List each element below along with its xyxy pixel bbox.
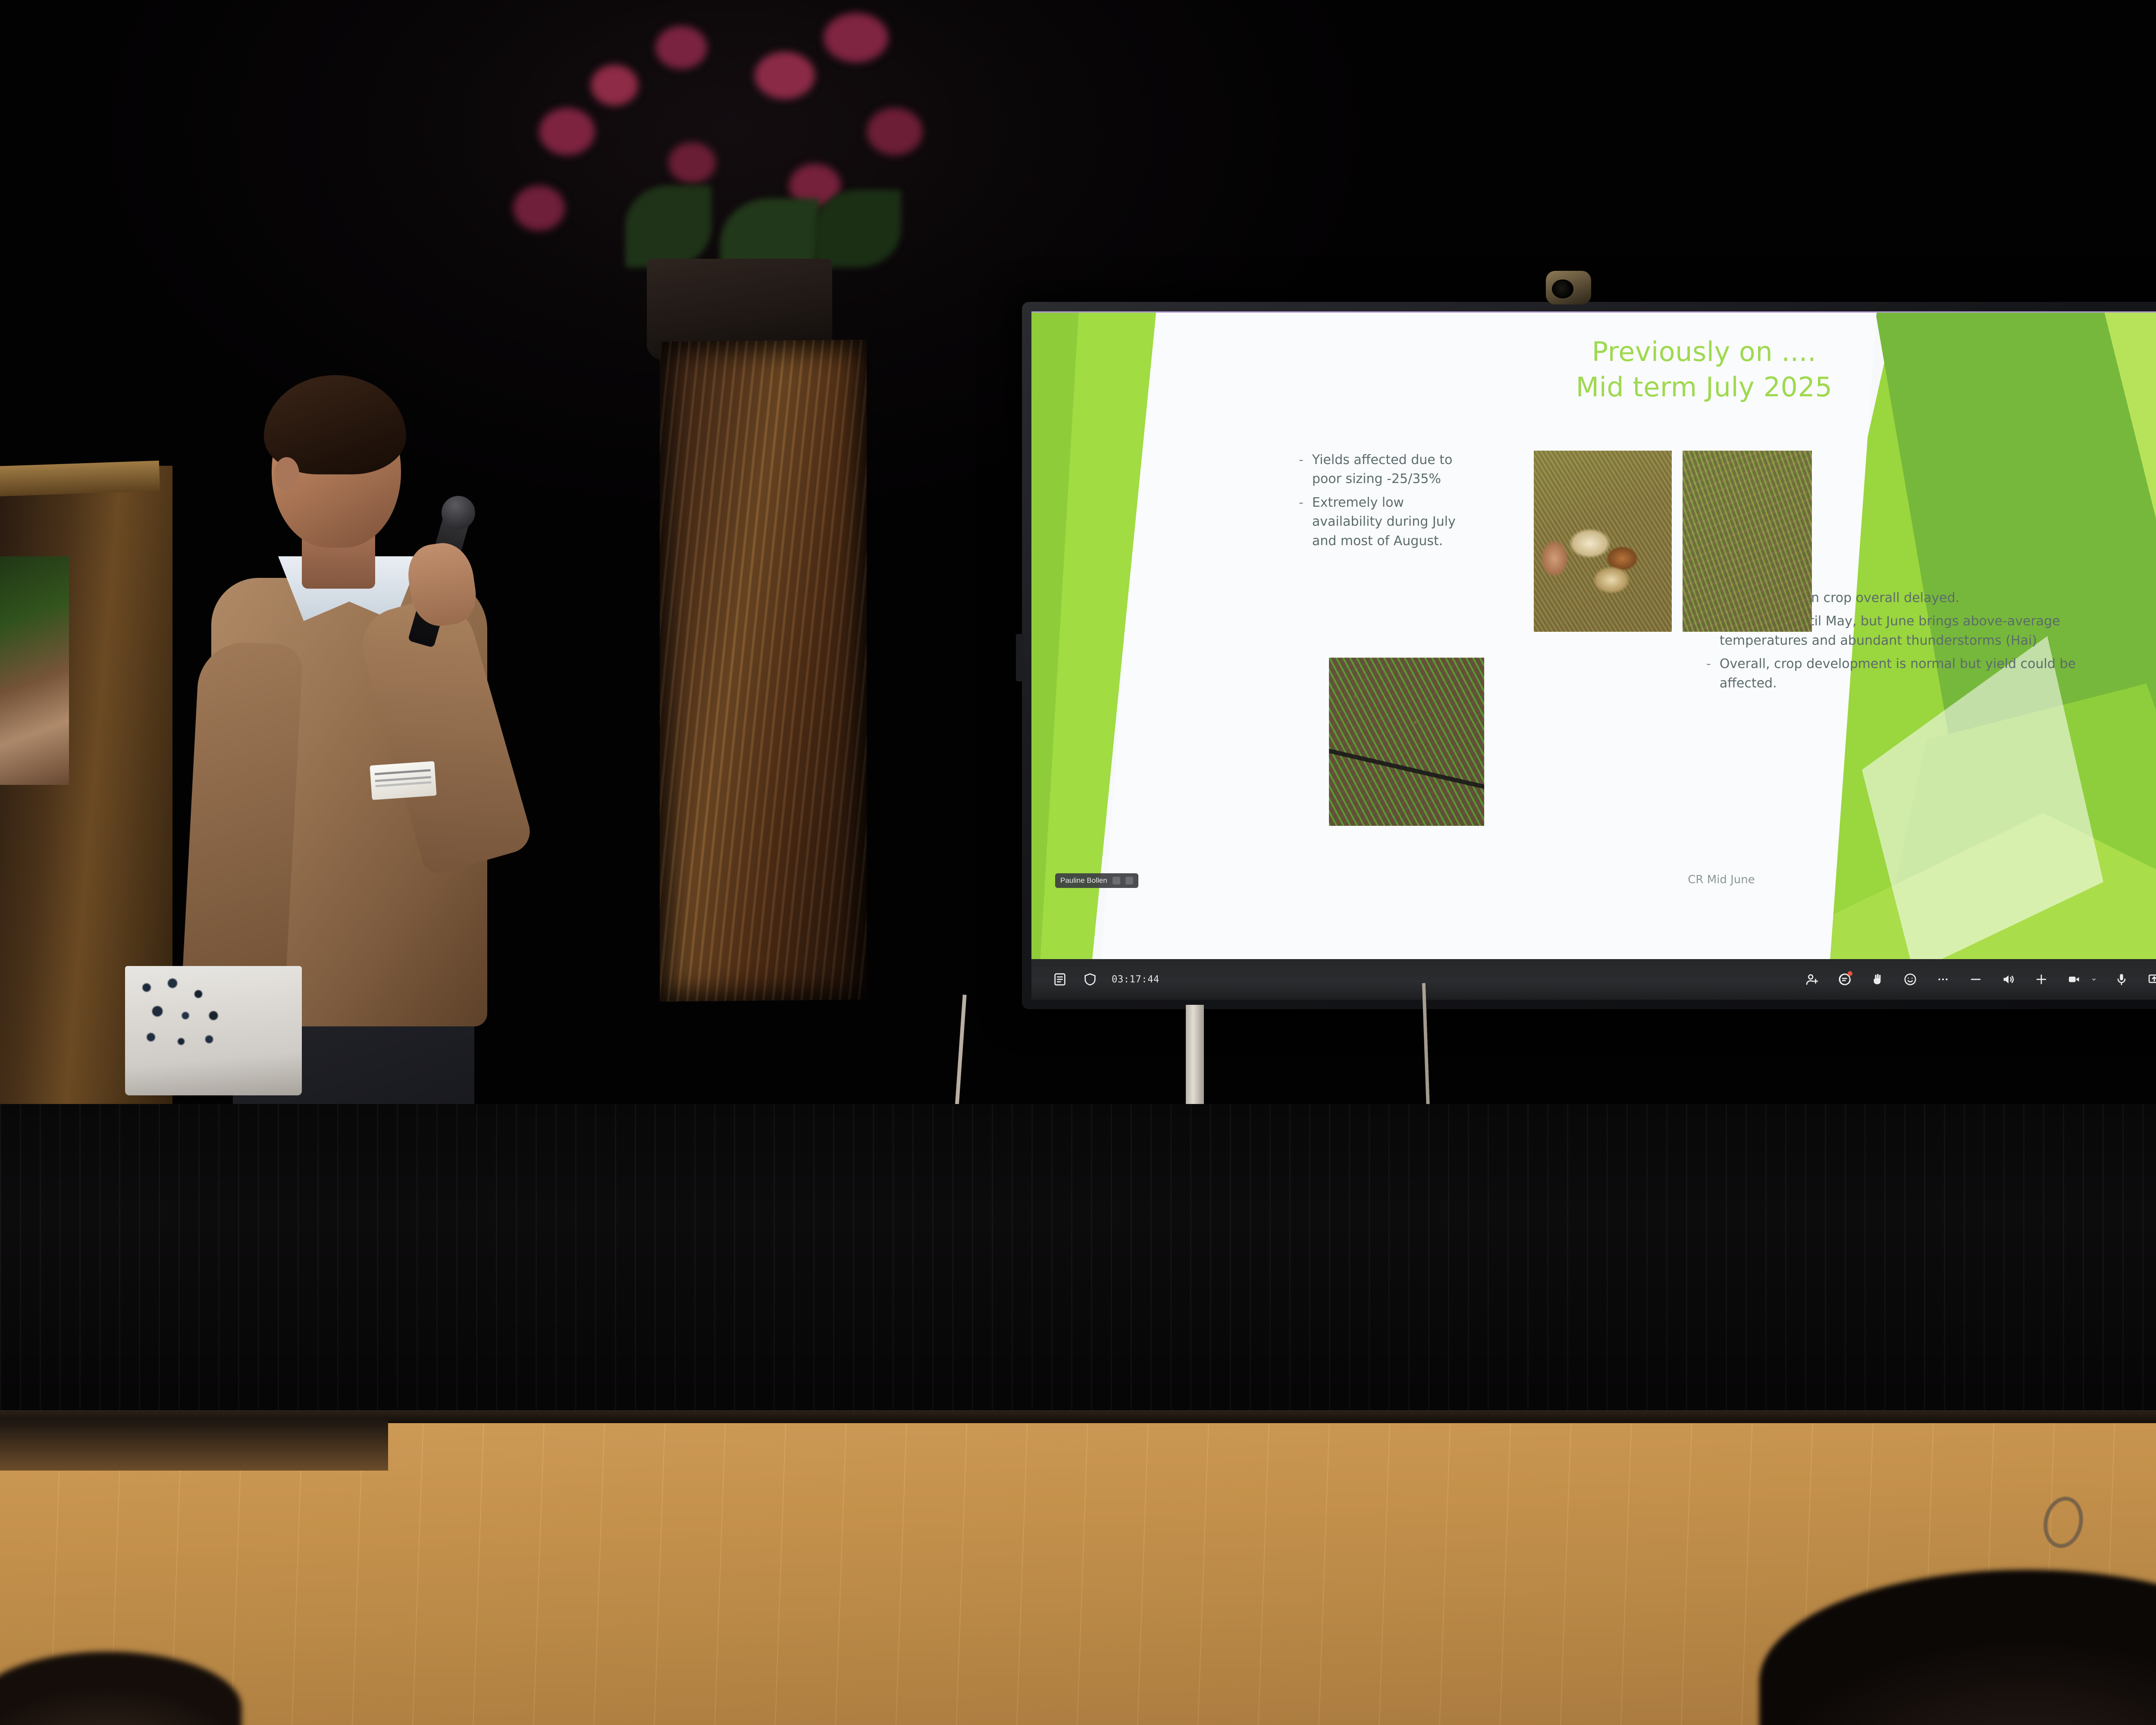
- stage-scene: Previously on .... Mid term July 2025 - …: [0, 0, 2156, 1725]
- speaker-icon[interactable]: [2000, 971, 2017, 988]
- wooden-plinth: [660, 339, 867, 1001]
- bullet-text: Yields affected due to poor sizing -25/3…: [1312, 451, 1463, 489]
- raise-hand-button[interactable]: [1869, 971, 1886, 988]
- chat-unread-badge: [1848, 971, 1852, 976]
- bullet-marker: -: [1299, 493, 1304, 551]
- presenter-ear: [274, 457, 299, 491]
- volume-down-button[interactable]: [1967, 971, 1984, 988]
- presenter-name-pill[interactable]: Pauline Bollen: [1055, 873, 1138, 888]
- meeting-bar-left: 03:17:44: [1031, 971, 1159, 988]
- floor-shadow-left: [0, 1419, 388, 1471]
- slide-photo-harvested-onions: [1534, 451, 1672, 632]
- slide-title: Previously on .... Mid term July 2025: [1454, 334, 1954, 405]
- shield-icon[interactable]: [1081, 971, 1099, 988]
- microphone-button[interactable]: [2113, 971, 2130, 988]
- bullet-text: Extremely low availability during July a…: [1312, 493, 1463, 551]
- slide-caption: CR Mid June: [1592, 873, 1851, 886]
- bullet-item: - Overall, crop development is normal bu…: [1706, 655, 2090, 693]
- presenter-pill-label: Pauline Bollen: [1060, 876, 1107, 885]
- bullet-marker: -: [1706, 655, 1711, 693]
- bullet-item: - Extremely low availability during July…: [1299, 493, 1463, 551]
- lectern-top: [0, 461, 160, 497]
- lectern-poster: [0, 556, 69, 785]
- pill-mini-icon-2: [1125, 877, 1133, 884]
- tote-bag: [125, 966, 302, 1095]
- floral-arrangement: [487, 0, 996, 358]
- webcam-icon: [1546, 271, 1591, 304]
- pill-mini-icon: [1112, 877, 1120, 884]
- meeting-timer: 03:17:44: [1112, 974, 1159, 985]
- display-screen[interactable]: Previously on .... Mid term July 2025 - …: [1031, 311, 2156, 959]
- bullet-item: - Yields affected due to poor sizing -25…: [1299, 451, 1463, 489]
- reactions-button[interactable]: [1902, 971, 1919, 988]
- slide-photo-onion-field: [1683, 451, 1812, 632]
- chat-button[interactable]: [1836, 971, 1853, 988]
- slide-title-line-1: Previously on ....: [1454, 334, 1954, 370]
- more-options-button[interactable]: [1934, 971, 1952, 988]
- meeting-bar-right: [1803, 967, 2156, 991]
- add-participant-button[interactable]: [1803, 971, 1821, 988]
- notes-icon[interactable]: [1051, 971, 1069, 988]
- share-screen-button[interactable]: [2146, 971, 2156, 988]
- interactive-touchscreen-display[interactable]: Previously on .... Mid term July 2025 - …: [1022, 302, 2156, 1009]
- name-badge: [370, 761, 436, 800]
- bullet-marker: -: [1299, 451, 1304, 489]
- bullet-text: Overall, crop development is normal but …: [1720, 655, 2090, 693]
- slide-title-line-2: Mid term July 2025: [1454, 370, 1954, 405]
- stage-skirt: [0, 1104, 2156, 1419]
- camera-button[interactable]: [2065, 971, 2083, 988]
- slide-bullets-left: - Yields affected due to poor sizing -25…: [1299, 451, 1463, 555]
- slide-photo-onion-seedlings: [1329, 658, 1484, 826]
- volume-up-button[interactable]: [2033, 971, 2050, 988]
- chevron-down-icon[interactable]: [2090, 976, 2097, 983]
- display-side-button[interactable]: [1016, 634, 1024, 681]
